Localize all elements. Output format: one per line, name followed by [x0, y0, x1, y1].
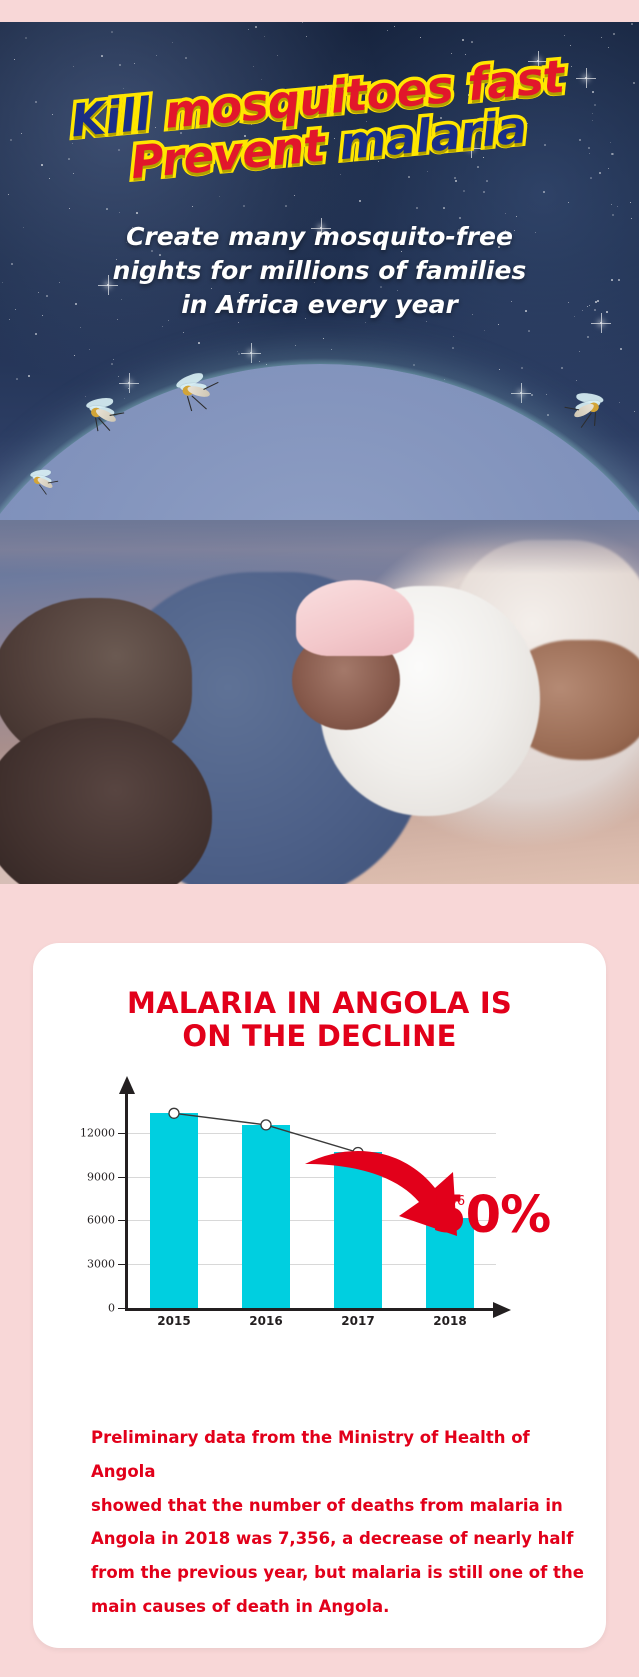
card-title-line-1: MALARIA IN ANGOLA IS: [33, 987, 606, 1020]
mosquito-icon: [76, 396, 129, 438]
paragraph-line: Preliminary data from the Ministry of He…: [91, 1421, 591, 1489]
card-paragraph: Preliminary data from the Ministry of He…: [91, 1421, 591, 1624]
subtitle-line-3: in Africa every year: [0, 288, 639, 322]
paragraph-line: Angola in 2018 was 7,356, a decrease of …: [91, 1522, 591, 1556]
y-axis-tick: [118, 1264, 126, 1265]
x-axis-line: [125, 1308, 496, 1311]
subtitle-line-1: Create many mosquito-free: [0, 220, 639, 254]
card-title-line-2: ON THE DECLINE: [33, 1020, 606, 1053]
baby-hat: [296, 580, 414, 656]
poster-page: Kill mosquitoes fast Prevent malaria Cre…: [0, 0, 639, 1677]
mosquito-icon: [168, 374, 221, 415]
y-axis-tick-label: 6000: [87, 1214, 115, 1227]
y-axis-tick: [118, 1177, 126, 1178]
hero-banner: Kill mosquitoes fast Prevent malaria Cre…: [0, 22, 639, 884]
bar-2016: [242, 1125, 290, 1308]
y-axis-labels: 030006000900012000: [33, 1076, 115, 1316]
paragraph-line: showed that the number of deaths from ma…: [91, 1489, 591, 1523]
y-axis-tick-label: 12000: [80, 1127, 115, 1140]
y-axis-tick-label: 0: [108, 1301, 115, 1314]
mosquito-leg: [95, 418, 98, 432]
mosquito-leg: [187, 396, 192, 411]
y-axis-tick: [118, 1133, 126, 1134]
data-label-2018: 7356: [432, 1194, 465, 1209]
x-axis-label-2018: 2018: [433, 1314, 466, 1328]
y-axis-tick-label: 3000: [87, 1258, 115, 1271]
x-axis-label-2016: 2016: [249, 1314, 282, 1328]
bar-2017: [334, 1152, 382, 1308]
paragraph-line: from the previous year, but malaria is s…: [91, 1556, 591, 1590]
x-axis-label-2017: 2017: [341, 1314, 374, 1328]
y-axis-tick: [118, 1220, 126, 1221]
y-axis-tick-label: 9000: [87, 1170, 115, 1183]
malaria-decline-chart: 030006000900012000 2015201620172018 -50%…: [33, 1076, 606, 1338]
card-title: MALARIA IN ANGOLA IS ON THE DECLINE: [33, 987, 606, 1054]
paragraph-line: main causes of death in Angola.: [91, 1590, 591, 1624]
mosquito-leg: [594, 412, 596, 426]
x-axis-labels: 2015201620172018: [128, 1314, 498, 1334]
bar-2015: [150, 1113, 198, 1308]
statistics-card: MALARIA IN ANGOLA IS ON THE DECLINE 0300…: [33, 943, 606, 1648]
mosquito-leg: [48, 481, 58, 484]
mosquito-leg: [191, 395, 206, 409]
x-axis-label-2015: 2015: [157, 1314, 190, 1328]
family-photo: [0, 520, 639, 884]
subtitle-line-2: nights for millions of families: [0, 254, 639, 288]
photo-top-fade: [0, 520, 639, 574]
hero-subtitle: Create many mosquito-free nights for mil…: [0, 220, 639, 322]
